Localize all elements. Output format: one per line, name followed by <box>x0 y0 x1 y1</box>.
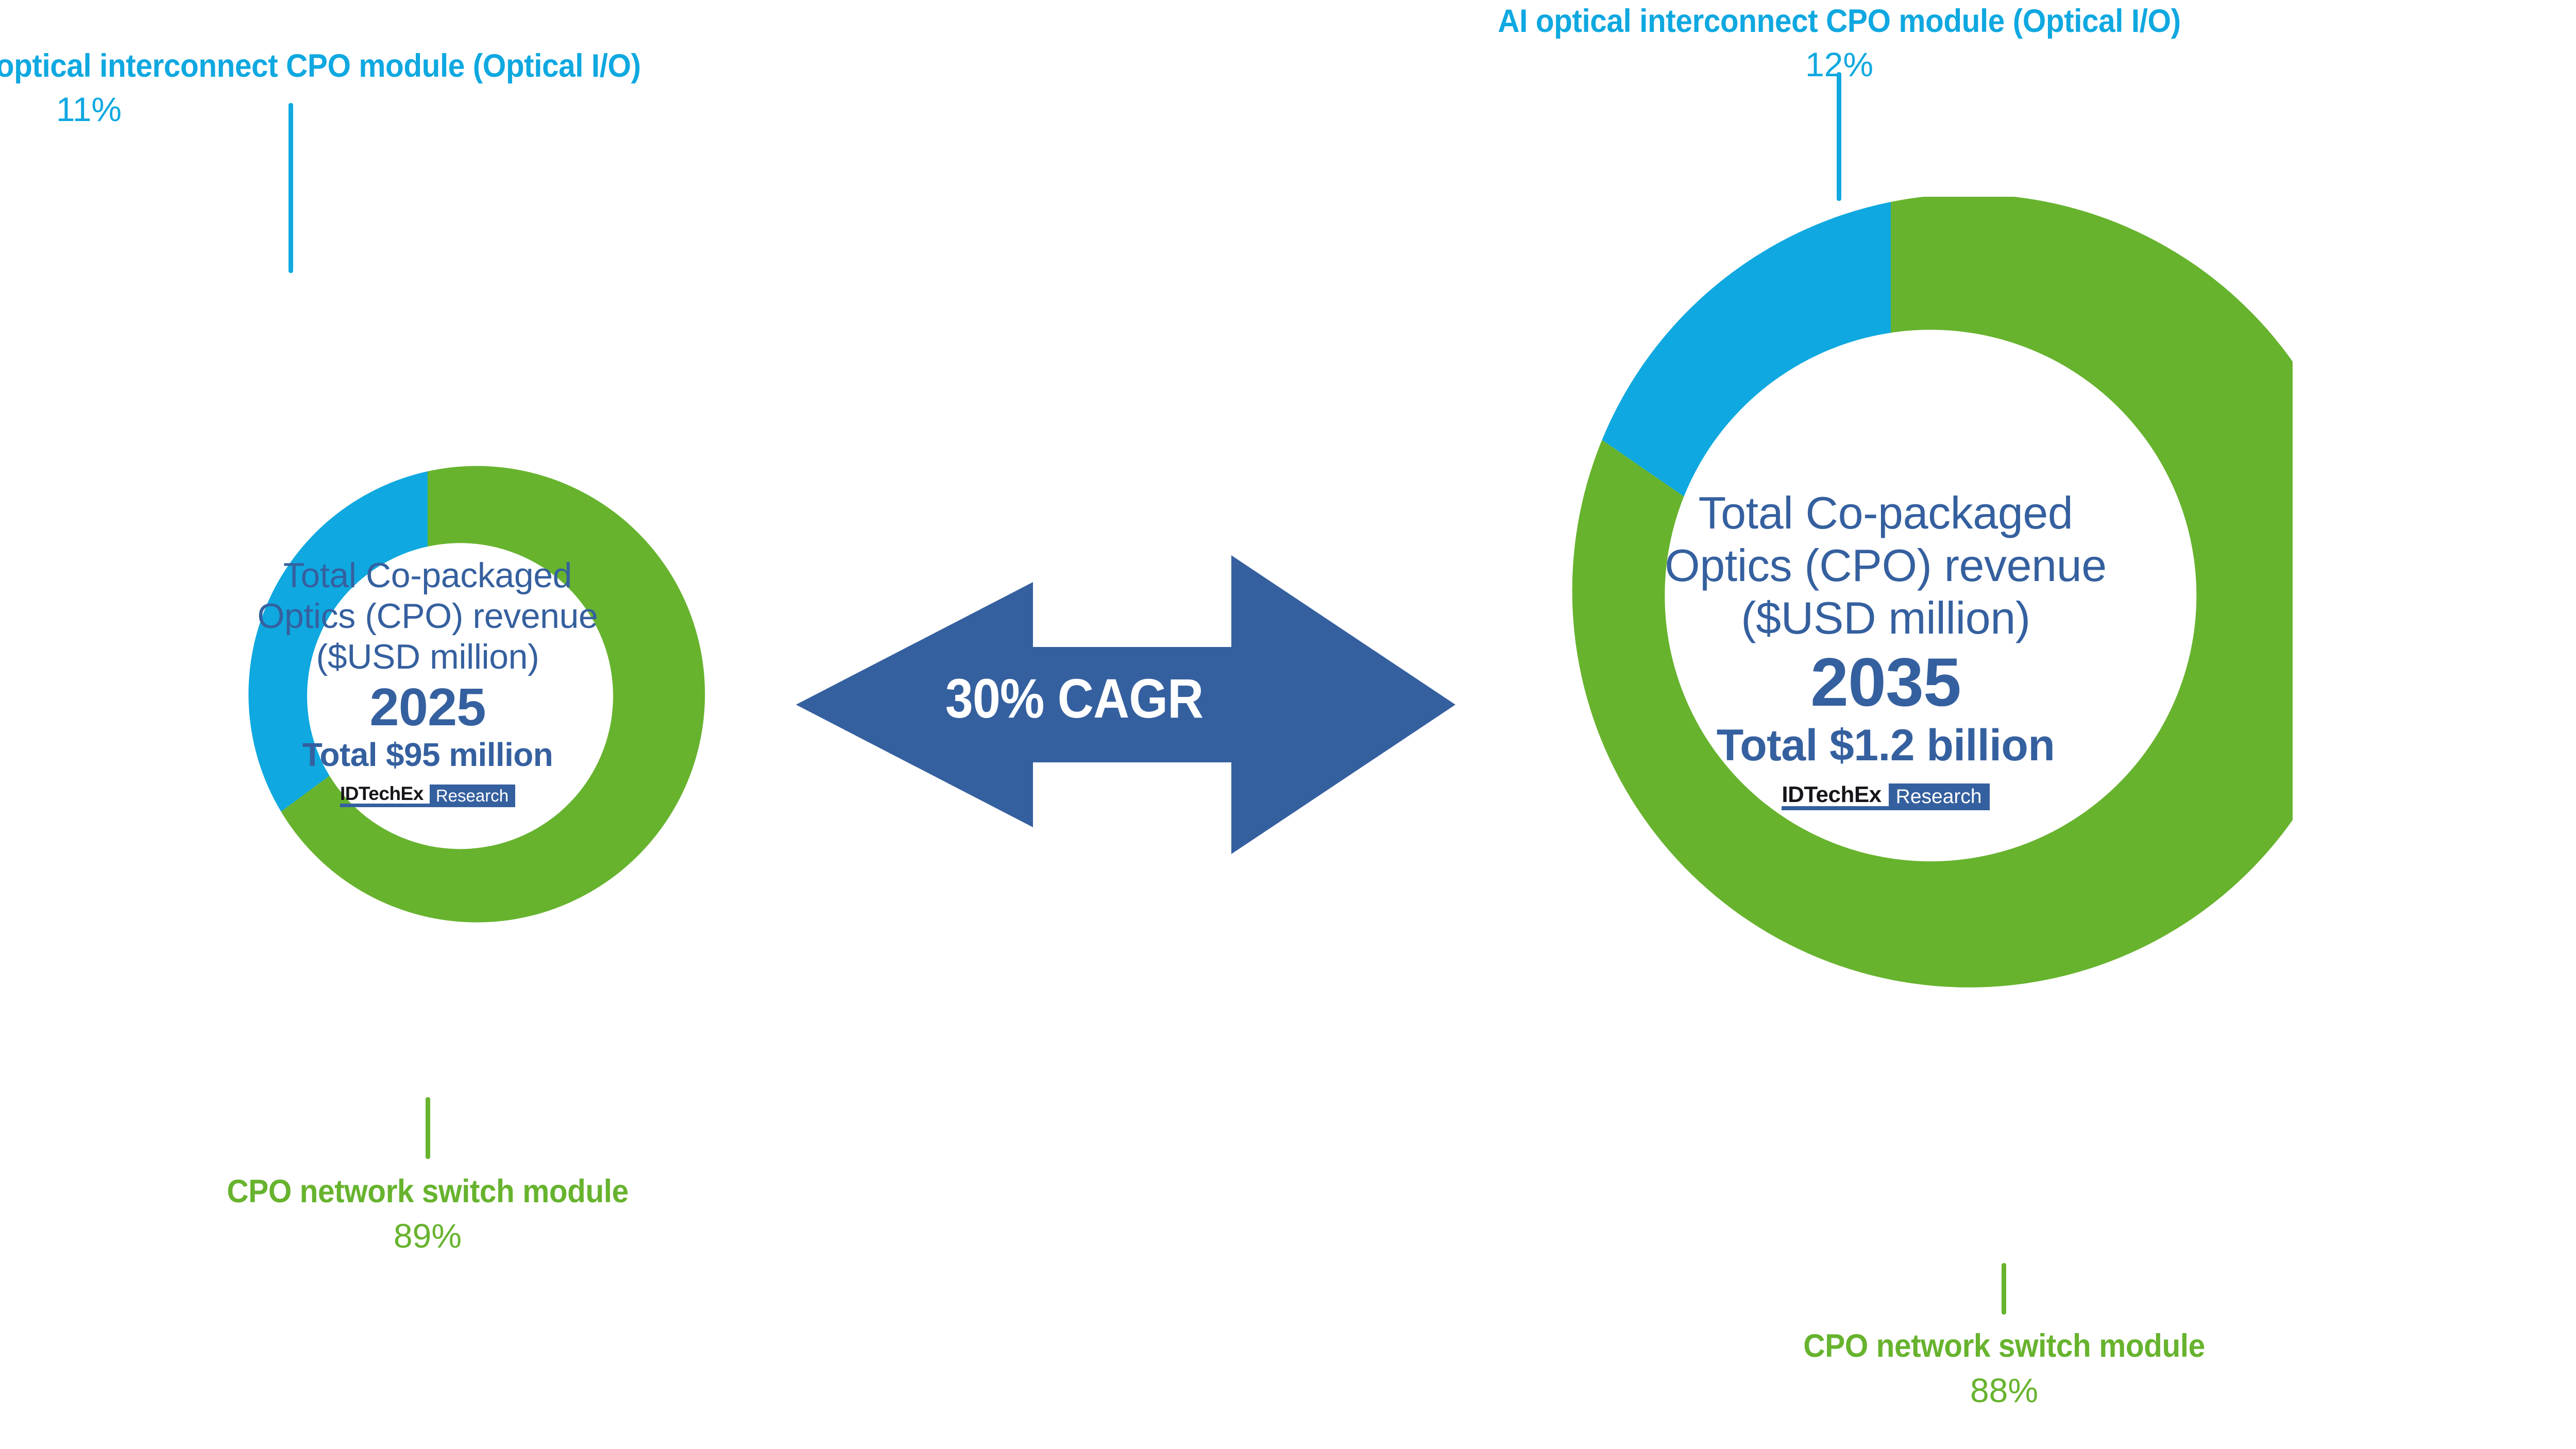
cagr-arrow-label: 30% CAGR <box>824 666 1325 730</box>
idtechex-logo-research-box: Research <box>1889 783 1990 810</box>
idtechex-logo-word: IDTechEx <box>1782 783 1888 810</box>
left-top-callout-percent: 11% <box>0 92 644 128</box>
right-bottom-callout: CPO network switch module 88% <box>1360 1329 2576 1409</box>
left-center-year: 2025 <box>170 680 685 734</box>
left-bottom-callout-category: CPO network switch module <box>116 1174 739 1209</box>
right-center-line2: Optics (CPO) revenue <box>1556 539 2215 592</box>
right-bottom-leader-line <box>2002 1263 2006 1315</box>
idtechex-logo: IDTechEx Research <box>1782 783 1989 810</box>
right-top-callout: AI optical interconnect CPO module (Opti… <box>1056 4 2576 83</box>
left-bottom-callout-percent: 89% <box>93 1218 762 1254</box>
right-top-callout-category: AI optical interconnect CPO module (Opti… <box>1111 4 2567 39</box>
right-segment-blue[interactable] <box>1602 202 1891 497</box>
left-bottom-leader-line <box>426 1097 430 1159</box>
idtechex-logo-research-box: Research <box>430 785 515 807</box>
left-top-callout: AI optical interconnect CPO module (Opti… <box>0 49 644 128</box>
right-center-year: 2035 <box>1556 649 2215 717</box>
left-bottom-callout: CPO network switch module 89% <box>93 1174 762 1254</box>
left-top-leader-line <box>289 103 293 273</box>
right-center-line3: ($USD million) <box>1556 592 2215 644</box>
cagr-arrow[interactable]: 30% CAGR <box>796 555 1455 854</box>
left-center-line3: ($USD million) <box>170 637 685 677</box>
left-center-total: Total $95 million <box>170 738 685 772</box>
right-bottom-callout-percent: 88% <box>1360 1373 2576 1409</box>
right-top-leader-line <box>1837 72 1841 201</box>
right-center-line1: Total Co-packaged <box>1556 487 2215 539</box>
left-center-line1: Total Co-packaged <box>170 555 685 596</box>
infographic-canvas: AI optical interconnect CPO module (Opti… <box>0 0 2576 1449</box>
idtechex-logo: IDTechEx Research <box>340 785 515 807</box>
left-top-callout-category: AI optical interconnect CPO module (Opti… <box>0 49 619 83</box>
right-donut-center-text: Total Co-packaged Optics (CPO) revenue (… <box>1556 487 2215 810</box>
right-top-callout-percent: 12% <box>1056 47 2576 83</box>
left-center-line2: Optics (CPO) revenue <box>170 596 685 637</box>
idtechex-logo-word: IDTechEx <box>340 785 430 807</box>
left-donut-center-text: Total Co-packaged Optics (CPO) revenue (… <box>170 555 685 807</box>
right-bottom-callout-category: CPO network switch module <box>1405 1329 2576 1363</box>
right-center-total: Total $1.2 billion <box>1556 722 2215 769</box>
